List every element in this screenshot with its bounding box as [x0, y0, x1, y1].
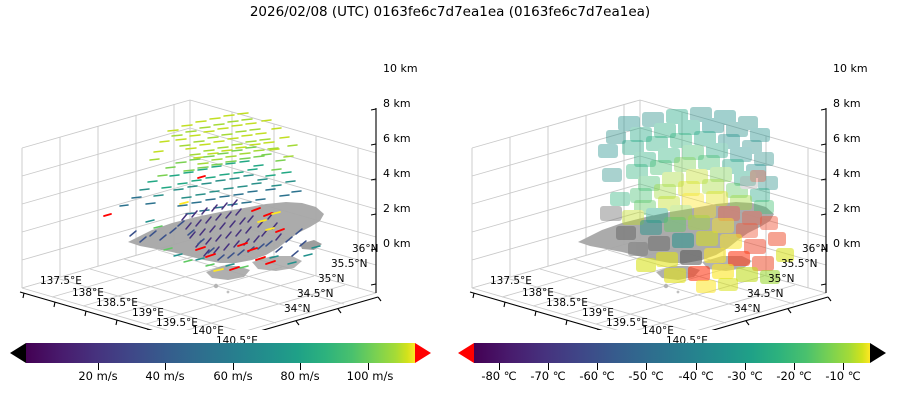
temp-cb-label--80: -80 ℃ [481, 371, 516, 383]
wind-z-tick-0: 0 km [383, 238, 411, 249]
wind-z-tick-6: 6 km [383, 133, 411, 144]
wind-cb-label-60: 60 m/s [213, 371, 252, 383]
temp-colorbar-extend-under [458, 343, 474, 363]
temp-cb-label--70: -70 ℃ [530, 371, 565, 383]
wind-lat-tick-35: 35°N [318, 274, 344, 285]
temperature-colorbar[interactable]: -80 ℃ -70 ℃ -60 ℃ -50 ℃ -40 ℃ -30 ℃ -20 … [450, 336, 900, 400]
wind-colorbar-extend-under [10, 343, 26, 363]
temp-z-tick-0: 0 km [833, 238, 861, 249]
temp-z-tick-10: 10 km [833, 63, 868, 74]
wind-speed-colorbar[interactable]: 20 m/s 40 m/s 60 m/s 80 m/s 100 m/s [0, 336, 450, 400]
temp-colorbar-extend-over [870, 343, 886, 363]
temp-z-tick-4: 4 km [833, 168, 861, 179]
wind-lat-tick-35_5: 35.5°N [331, 259, 367, 270]
temp-lat-tick-34_5: 34.5°N [747, 289, 783, 300]
temp-lat-tick-36: 36°N [802, 244, 828, 255]
wind-lat-tick-36: 36°N [352, 244, 378, 255]
temp-cb-label--10: -10 ℃ [825, 371, 860, 383]
temp-z-tick-8: 8 km [833, 98, 861, 109]
figure-canvas: 2026/02/08 (UTC) 0163fe6c7d7ea1ea (0163f… [0, 0, 900, 400]
wind-lat-tick-34: 34°N [284, 304, 310, 315]
temp-cb-label--30: -30 ℃ [727, 371, 762, 383]
temp-cb-label--20: -20 ℃ [776, 371, 811, 383]
wind-panel[interactable]: 0 km 2 km 4 km 6 km 8 km 10 km 36°N 35.5… [0, 30, 450, 330]
figure-title: 2026/02/08 (UTC) 0163fe6c7d7ea1ea (0163f… [0, 4, 900, 20]
temp-colorbar-gradient[interactable] [474, 343, 870, 363]
temp-cb-label--60: -60 ℃ [579, 371, 614, 383]
wind-cb-label-100: 100 m/s [347, 371, 394, 383]
wind-z-tick-2: 2 km [383, 203, 411, 214]
wind-z-tick-4: 4 km [383, 168, 411, 179]
temp-lat-tick-34: 34°N [734, 304, 760, 315]
temp-lat-tick-35_5: 35.5°N [781, 259, 817, 270]
temp-z-tick-2: 2 km [833, 203, 861, 214]
wind-lat-tick-34_5: 34.5°N [297, 289, 333, 300]
wind-cb-label-80: 80 m/s [280, 371, 319, 383]
wind-lon-tick-137_5: 137.5°E [40, 276, 82, 287]
temp-lon-tick-137_5: 137.5°E [490, 276, 532, 287]
wind-cb-label-20: 20 m/s [78, 371, 117, 383]
wind-cb-label-40: 40 m/s [145, 371, 184, 383]
wind-z-tick-8: 8 km [383, 98, 411, 109]
wind-colorbar-gradient[interactable] [26, 343, 415, 363]
wind-z-tick-10: 10 km [383, 63, 418, 74]
temp-cb-label--50: -50 ℃ [628, 371, 663, 383]
temperature-panel[interactable]: 0 km 2 km 4 km 6 km 8 km 10 km 36°N 35.5… [450, 30, 900, 330]
temp-z-tick-6: 6 km [833, 133, 861, 144]
temp-cb-label--40: -40 ℃ [678, 371, 713, 383]
wind-colorbar-extend-over [415, 343, 431, 363]
temp-lat-tick-35: 35°N [768, 274, 794, 285]
